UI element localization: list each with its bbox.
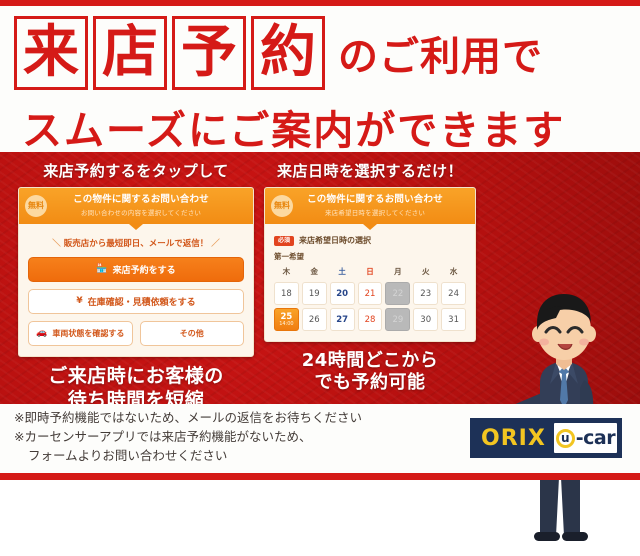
headline-row-1: 来 店 予 約 のご利用で [14,16,543,90]
stock-quote-button[interactable]: ¥ 在庫確認・見積依頼をする [28,289,244,314]
headline-kanji-4: 約 [251,16,325,90]
other-label: その他 [180,328,204,339]
footer-note-2: ※カーセンサーアプリでは来店予約機能がないため、 [14,429,444,446]
calendar-day-number: 22 [392,290,403,299]
calendar-day-number: 25 [281,313,293,322]
calendar-grid: 木金土日月火水 [274,266,466,279]
calendar-section-header: 必須 来店希望日時の選択 [274,235,466,246]
calendar-day[interactable]: 28 [358,308,383,331]
calendar-mockup-header-subtitle: 来店希望日時を選択してください [299,207,451,217]
calendar-day[interactable]: 20 [330,282,355,305]
mockup-body: ＼ 販売店から最短即日、メールで返信！ ／ 🏪 来店予約をする ¥ 在庫確認・見… [19,224,253,356]
headline-kanji-3: 予 [172,16,246,90]
car-text: -car [576,427,615,449]
headline-row-2: スムーズにご案内ができます [22,98,622,156]
calendar-day[interactable]: 31 [441,308,466,331]
vehicle-condition-label: 車両状態を確認する [52,328,124,339]
calendar-day-number: 24 [448,290,459,299]
car-icon: 🚗 [36,329,47,338]
calendar-day: 22 [385,282,410,305]
calendar-day[interactable]: 24 [441,282,466,305]
free-badge: 無料 [271,195,293,217]
u-circle-icon: u [556,429,575,448]
calendar-day[interactable]: 26 [302,308,327,331]
calendar-day-number: 26 [309,316,320,325]
calendar-weekday: 月 [385,266,410,279]
calendar-day-number: 31 [448,316,459,325]
phone-mockup-inquiry: 無料 この物件に関するお問い合わせ お問い合わせの内容を選択してください ＼ 販… [18,187,254,357]
calendar-mockup-header: 無料 この物件に関するお問い合わせ 来店希望日時を選択してください [265,188,475,224]
mockup-header-text: この物件に関するお問い合わせ お問い合わせの内容を選択してください [53,194,247,217]
mockup-header-subtitle: お問い合わせの内容を選択してください [53,207,229,217]
calendar-day[interactable]: 19 [302,282,327,305]
calendar-day-number: 19 [309,290,320,299]
calendar-day-number: 23 [420,290,431,299]
calendar-day[interactable]: 23 [413,282,438,305]
headline-kanji-2: 店 [93,16,167,90]
panel-right-caption-line1: 24時間どこから [264,350,476,372]
mockup-header-title: この物件に関するお問い合わせ [53,194,229,205]
calendar-weekday: 木 [274,266,299,279]
footer-note-3: フォームよりお問い合わせください [14,448,444,465]
calendar-day-number: 27 [336,316,348,325]
calendar-day-number: 20 [336,290,348,299]
headline-kanji-1: 来 [14,16,88,90]
calendar-days: 181920212223242514:00262728293031 [274,282,466,331]
calendar-mockup-header-title: この物件に関するお問い合わせ [299,194,451,205]
headline-tail: のご利用で [338,24,543,82]
calendar-mockup-body: 必須 来店希望日時の選択 第一希望 木金土日月火水 18192021222324… [265,224,475,341]
calendar-weekday: 土 [330,266,355,279]
calendar-weekday: 日 [358,266,383,279]
footer-notes: ※即時予約機能ではないため、メールの返信をお待ちください ※カーセンサーアプリで… [14,410,444,467]
headline: 来 店 予 約 のご利用で スムーズにご案内ができます [0,6,640,152]
slash-right: ／ [211,239,220,249]
calendar-day[interactable]: 27 [330,308,355,331]
panel-left-caption-line1: ご来店時にお客様の [18,365,254,388]
calendar-day-number: 28 [365,316,376,325]
yen-icon: ¥ [76,297,82,306]
mockup-header: 無料 この物件に関するお問い合わせ お問い合わせの内容を選択してください [19,188,253,224]
panel-right: 来店日時を選択するだけ！ 無料 この物件に関するお問い合わせ 来店希望日時を選択… [264,160,476,394]
secondary-button-row: 🚗 車両状態を確認する その他 [28,321,244,346]
calendar-day-number: 18 [281,290,292,299]
calendar-section-label: 来店希望日時の選択 [299,235,371,246]
panel-right-title: 来店日時を選択するだけ！ [264,160,476,181]
calendar-day[interactable]: 18 [274,282,299,305]
preference-label: 第一希望 [274,251,466,262]
required-badge: 必須 [274,236,294,246]
calendar-weekday: 金 [302,266,327,279]
footer: ※即時予約機能ではないため、メールの返信をお待ちください ※カーセンサーアプリで… [0,404,640,473]
orix-wordmark: ORIX [471,426,554,451]
calendar-day[interactable]: 21 [358,282,383,305]
calendar-day-number: 30 [420,316,431,325]
calendar-day[interactable]: 30 [413,308,438,331]
reply-lead-text: ＼ 販売店から最短即日、メールで返信！ ／ [28,237,244,249]
phone-mockup-calendar: 無料 この物件に関するお問い合わせ 来店希望日時を選択してください 必須 来店希… [264,187,476,342]
reserve-visit-label: 来店予約をする [113,263,176,276]
ucar-wordmark: u -car [554,423,617,453]
vehicle-condition-button[interactable]: 🚗 車両状態を確認する [28,321,133,346]
panel-right-caption: 24時間どこから でも予約可能 [264,350,476,394]
calendar-day[interactable]: 2514:00 [274,308,299,331]
store-icon: 🏪 [96,265,107,274]
stock-quote-label: 在庫確認・見積依頼をする [88,295,196,308]
calendar-day-number: 29 [392,316,403,325]
panel-right-caption-line2: でも予約可能 [264,372,476,394]
panel-left-title: 来店予約するをタップして [18,160,254,181]
reserve-visit-button[interactable]: 🏪 来店予約をする [28,257,244,282]
calendar-day-time: 14:00 [279,322,293,327]
feature-band: 来店予約するをタップして 無料 この物件に関するお問い合わせ お問い合わせの内容… [0,152,640,404]
free-badge: 無料 [25,195,47,217]
calendar-day: 29 [385,308,410,331]
calendar-day-number: 21 [365,290,376,299]
calendar-mockup-header-text: この物件に関するお問い合わせ 来店希望日時を選択してください [299,194,469,217]
calendar-weekday: 火 [413,266,438,279]
calendar-weekday: 水 [441,266,466,279]
footer-note-1: ※即時予約機能ではないため、メールの返信をお待ちください [14,410,444,427]
poster: 来 店 予 約 のご利用で スムーズにご案内ができます 来店予約するをタップして… [0,0,640,480]
panel-left: 来店予約するをタップして 無料 この物件に関するお問い合わせ お問い合わせの内容… [18,160,254,412]
other-button[interactable]: その他 [140,321,245,346]
orix-ucar-logo: ORIX u -car [470,418,622,458]
reply-lead-label: 販売店から最短即日、メールで返信！ [64,239,209,249]
slash-left: ＼ [52,239,61,249]
bottom-accent-bar [0,473,640,480]
